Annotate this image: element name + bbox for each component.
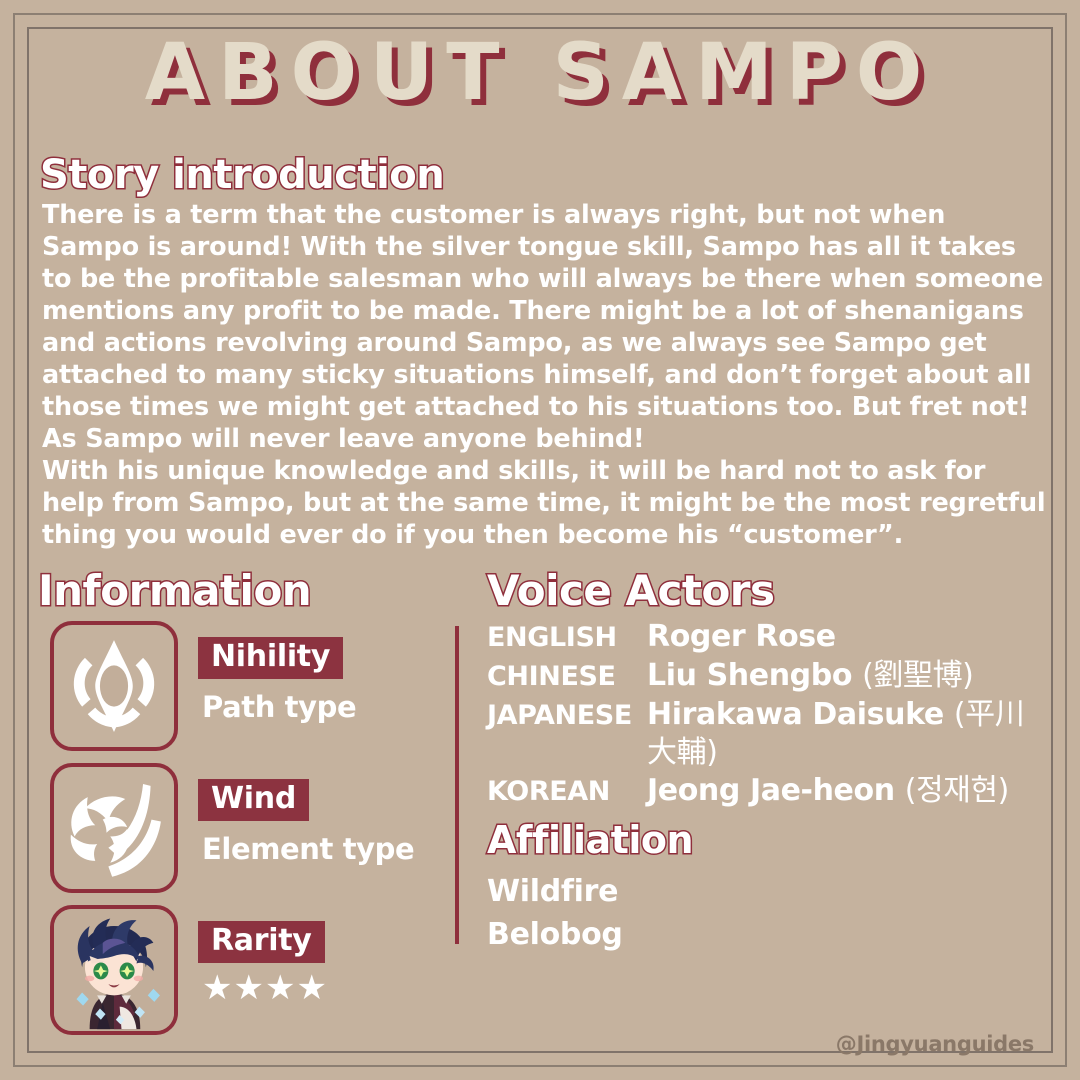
path-info-text: Nihility Path type <box>198 621 356 724</box>
voice-actors-heading: Voice Actors <box>487 566 775 615</box>
rarity-badge: Rarity <box>198 921 325 963</box>
watermark: @Jingyuanguides <box>836 1032 1034 1056</box>
story-introduction-heading: Story introduction <box>40 152 444 198</box>
affiliation-item: Belobog <box>487 913 623 956</box>
page-title: ABOUT SAMPO <box>0 33 1080 115</box>
voice-actor-language: JAPANESE <box>487 697 647 735</box>
path-badge: Nihility <box>198 637 343 679</box>
affiliation-item: Wildfire <box>487 870 623 913</box>
voice-actor-language: KOREAN <box>487 773 647 811</box>
voice-actor-row: CHINESE Liu Shengbo (劉聖博) <box>487 657 1027 696</box>
element-sub-label: Element type <box>198 832 414 866</box>
element-info-text: Wind Element type <box>198 763 414 866</box>
info-row-rarity: Rarity ★★★★ <box>50 905 328 1035</box>
voice-actor-row: ENGLISH Roger Rose <box>487 618 1027 657</box>
info-row-element: Wind Element type <box>50 763 414 893</box>
story-paragraph-1: There is a term that the customer is alw… <box>42 199 1047 455</box>
path-sub-label: Path type <box>198 690 356 724</box>
sampo-chibi-avatar <box>50 905 178 1035</box>
info-row-path: Nihility Path type <box>50 621 356 751</box>
section-divider <box>455 626 459 944</box>
rarity-info-text: Rarity ★★★★ <box>198 905 328 1005</box>
voice-actor-row: KOREAN Jeong Jae-heon (정재현) <box>487 772 1027 811</box>
voice-actor-name: Liu Shengbo (劉聖博) <box>647 657 1027 695</box>
information-heading: Information <box>38 566 311 615</box>
affiliation-list: Wildfire Belobog <box>487 870 623 956</box>
voice-actor-name: Roger Rose <box>647 618 1027 656</box>
story-paragraph-2: With his unique knowledge and skills, it… <box>42 455 1047 551</box>
voice-actor-native-name: (劉聖博) <box>862 658 973 693</box>
voice-actors-list: ENGLISH Roger Rose CHINESE Liu Shengbo (… <box>487 618 1027 811</box>
voice-actor-row: JAPANESE Hirakawa Daisuke (平川大輔) <box>487 696 1027 772</box>
wind-element-icon <box>50 763 178 893</box>
affiliation-heading: Affiliation <box>487 818 693 862</box>
rarity-stars: ★★★★ <box>198 971 328 1005</box>
voice-actor-native-name: (정재현) <box>905 773 1009 808</box>
nihility-path-icon <box>50 621 178 751</box>
voice-actor-language: ENGLISH <box>487 619 647 657</box>
story-introduction-body: There is a term that the customer is alw… <box>42 199 1047 551</box>
voice-actor-name: Hirakawa Daisuke (平川大輔) <box>647 696 1027 772</box>
voice-actor-language: CHINESE <box>487 658 647 696</box>
element-badge: Wind <box>198 779 309 821</box>
voice-actor-name: Jeong Jae-heon (정재현) <box>647 772 1027 810</box>
infographic-card: ABOUT SAMPO Story introduction There is … <box>0 0 1080 1080</box>
